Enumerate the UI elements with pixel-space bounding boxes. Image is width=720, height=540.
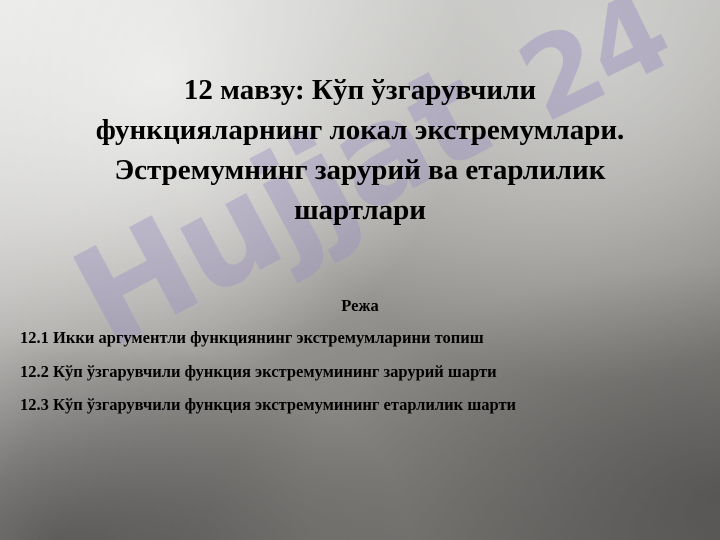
list-item: 12.3 Кўп ўзгарувчили функция экстремумин… <box>20 397 710 414</box>
list-item: 12.1 Икки аргументли функциянинг экстрем… <box>20 330 710 347</box>
title-line-4: шартлари <box>28 190 692 230</box>
plan-heading: Режа <box>28 296 692 316</box>
title-line-3: Эстремумнинг зарурий ва етарлилик <box>28 150 692 190</box>
list-item: 12.2 Кўп ўзгарувчили функция экстремумин… <box>20 364 710 381</box>
page-title: 12 мавзу: Кўп ўзгарувчили функцияларнинг… <box>28 70 692 230</box>
title-line-1: 12 мавзу: Кўп ўзгарувчили <box>28 70 692 110</box>
plan-list: 12.1 Икки аргументли функциянинг экстрем… <box>20 330 710 431</box>
title-line-2: функцияларнинг локал экстремумлари. <box>28 110 692 150</box>
slide: Hujjat 24 12 мавзу: Кўп ўзгарувчили функ… <box>0 0 720 540</box>
slide-content: 12 мавзу: Кўп ўзгарувчили функцияларнинг… <box>0 0 720 540</box>
